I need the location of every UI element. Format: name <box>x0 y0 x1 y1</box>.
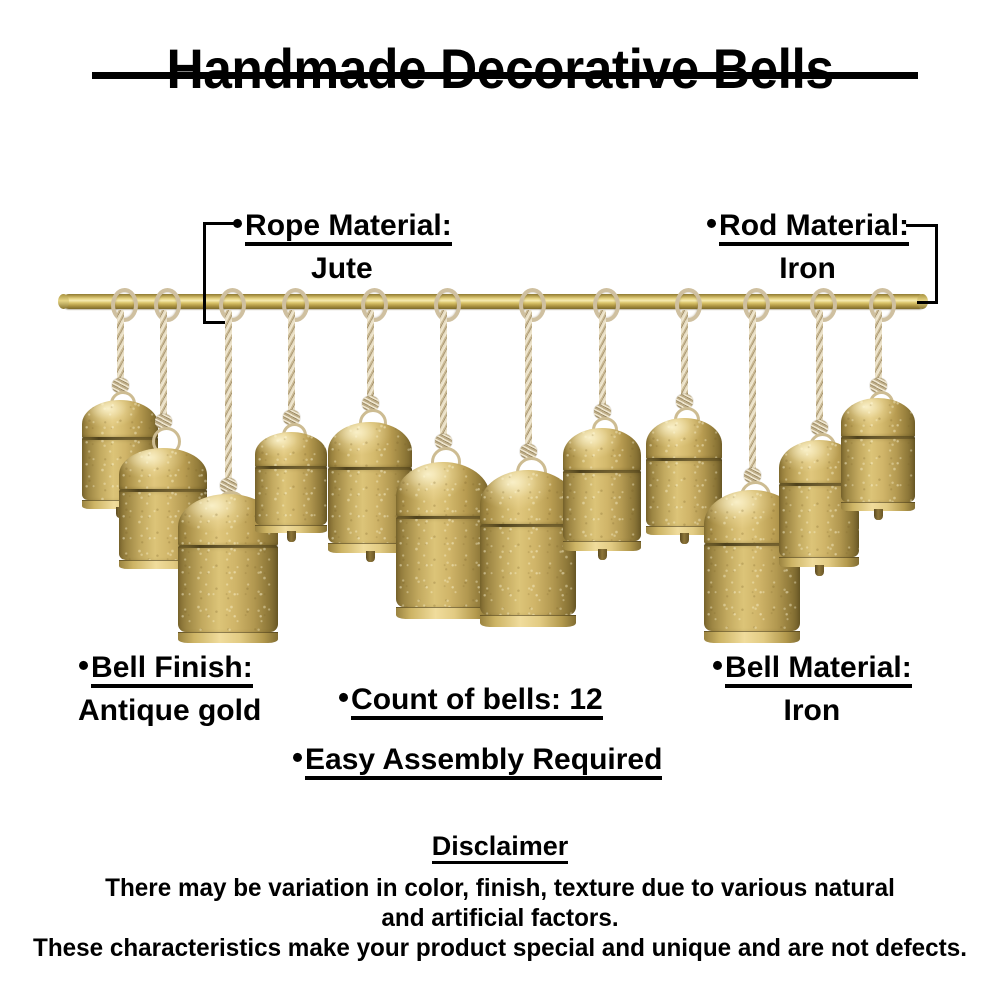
bell-dome <box>841 398 915 438</box>
jute-rope <box>440 310 447 438</box>
rope-loop <box>519 288 546 322</box>
bell-texture <box>82 437 158 500</box>
bell-rim <box>779 557 859 567</box>
rope-loop <box>593 288 620 322</box>
bell-seam <box>563 470 641 473</box>
rope-knot <box>220 478 237 493</box>
rope-loop <box>111 288 138 322</box>
bell-texture <box>779 440 859 485</box>
rope-knot <box>283 410 300 425</box>
bullet-icon: • <box>292 739 305 775</box>
disclaimer-block: Disclaimer There may be variation in col… <box>0 832 1000 963</box>
bell-texture <box>480 470 576 526</box>
decorative-bell <box>178 494 278 642</box>
jute-rope <box>749 310 756 472</box>
callout-finish-value: Antique gold <box>78 695 261 727</box>
bell-ring <box>516 457 547 488</box>
title-block: Handmade Decorative Bells <box>0 38 1000 100</box>
bullet-icon: • <box>338 679 351 715</box>
bell-rim <box>704 631 800 643</box>
bell-texture <box>119 489 207 560</box>
bell-texture <box>255 466 327 525</box>
callout-assembly: •Easy Assembly Required <box>292 740 662 780</box>
callout-assembly-label: Easy Assembly Required <box>305 745 662 780</box>
bullet-icon: • <box>712 647 725 683</box>
jute-rope <box>117 310 124 382</box>
bell-texture <box>328 467 412 543</box>
bullet-icon: • <box>232 205 245 241</box>
bell-body <box>178 545 278 632</box>
disclaimer-line-2: and artificial factors. <box>15 903 985 933</box>
bell-texture <box>82 400 158 439</box>
bell-body <box>779 483 859 557</box>
bell-texture <box>646 458 722 526</box>
rope-loop <box>675 288 702 322</box>
infographic-page: Handmade Decorative Bells •Rope Material… <box>0 0 1000 1000</box>
bell-dome <box>328 422 412 469</box>
bell-texture <box>841 398 915 438</box>
bell-body <box>328 467 412 543</box>
bell-body <box>480 524 576 615</box>
bell-ring <box>215 491 247 523</box>
jute-rope <box>225 310 232 482</box>
bell-clapper <box>287 531 296 542</box>
bullet-icon: • <box>706 205 719 241</box>
decorative-bell <box>328 422 412 552</box>
jute-rope <box>816 310 823 424</box>
bell-body <box>563 470 641 541</box>
bell-seam <box>328 467 412 470</box>
rope-loop <box>869 288 896 322</box>
bell-body <box>82 437 158 500</box>
callout-bell-count: •Count of bells: 12 <box>338 680 603 720</box>
decorative-bell <box>563 428 641 550</box>
bell-dome <box>779 440 859 485</box>
bell-texture <box>119 448 207 491</box>
bell-seam <box>779 483 859 486</box>
bell-seam <box>480 524 576 527</box>
rope-leader-bottom <box>203 321 225 324</box>
bell-clapper <box>815 565 824 576</box>
rope-loop <box>810 288 837 322</box>
callout-finish-label: Bell Finish: <box>91 653 253 688</box>
bell-seam <box>255 466 327 469</box>
decorative-bell <box>396 462 490 618</box>
bell-rim <box>841 502 915 511</box>
disclaimer-line-1: There may be variation in color, finish,… <box>15 873 985 903</box>
bell-texture <box>328 422 412 469</box>
rope-knot <box>744 468 761 483</box>
bell-rim <box>480 615 576 627</box>
bell-clapper <box>366 551 375 562</box>
rope-knot <box>811 420 828 435</box>
jute-rope <box>525 310 532 448</box>
rope-knot <box>155 414 172 429</box>
page-title: Handmade Decorative Bells <box>40 38 960 100</box>
bell-texture <box>480 524 576 615</box>
bell-texture <box>396 516 490 607</box>
bell-rim <box>178 632 278 643</box>
callout-rod-label: Rod Material: <box>719 211 909 246</box>
jute-rope <box>160 310 167 418</box>
bell-clapper <box>874 509 883 520</box>
bell-dome <box>119 448 207 491</box>
bell-ring <box>740 481 771 512</box>
rope-knot <box>435 434 452 449</box>
decorative-bell <box>480 470 576 626</box>
bell-texture <box>563 428 641 472</box>
iron-rod <box>62 294 926 309</box>
bell-seam <box>841 436 915 439</box>
rope-loop <box>434 288 461 322</box>
bell-dome <box>82 400 158 439</box>
bell-rim <box>646 526 722 535</box>
decorative-bell <box>704 490 800 642</box>
rod-end-left <box>58 294 69 309</box>
bell-ring <box>431 447 461 477</box>
jute-rope <box>599 310 606 408</box>
disclaimer-line-3: These characteristics make your product … <box>15 933 985 963</box>
bell-texture <box>563 470 641 541</box>
bell-ring <box>110 391 136 417</box>
bell-ring <box>809 433 836 460</box>
rope-loop <box>743 288 770 322</box>
callout-rod-value: Iron <box>706 253 909 285</box>
bell-body <box>704 543 800 631</box>
bell-texture <box>255 432 327 468</box>
bell-body <box>646 458 722 526</box>
bell-seam <box>82 437 158 440</box>
rope-knot <box>520 444 537 459</box>
title-underline-bar <box>92 72 918 79</box>
bell-rim <box>328 543 412 553</box>
bell-ring <box>592 417 618 443</box>
bell-seam <box>178 545 278 548</box>
decorative-bell <box>646 418 722 534</box>
callout-rope-material: •Rope Material: Jute <box>232 206 452 285</box>
rope-loop <box>361 288 388 322</box>
decorative-bell <box>841 398 915 510</box>
rod-leader-vertical <box>935 224 938 304</box>
bell-dome <box>563 428 641 472</box>
disclaimer-heading: Disclaimer <box>432 832 569 864</box>
bell-texture <box>646 418 722 460</box>
rod-leader-top <box>906 224 938 227</box>
bell-dome <box>178 494 278 547</box>
bell-seam <box>646 458 722 461</box>
decorative-bell <box>779 440 859 566</box>
bell-clapper <box>680 533 689 544</box>
rope-knot <box>362 396 379 411</box>
decorative-bell <box>255 432 327 532</box>
bell-seam <box>396 516 490 519</box>
bell-seam <box>704 543 800 546</box>
bell-body <box>396 516 490 607</box>
bell-texture <box>841 436 915 502</box>
bell-ring <box>359 409 387 437</box>
decorative-bell <box>119 448 207 568</box>
bell-texture <box>704 490 800 545</box>
callout-rod-material: •Rod Material: Iron <box>706 206 909 285</box>
rod-leader-bottom <box>917 301 938 304</box>
bell-dome <box>704 490 800 545</box>
rope-knot <box>676 394 693 409</box>
callout-material-value: Iron <box>712 695 912 727</box>
rope-loop <box>219 288 246 322</box>
bell-rim <box>563 541 641 551</box>
decorative-bell <box>82 400 158 508</box>
bell-ring <box>282 423 307 448</box>
rope-knot <box>870 378 887 393</box>
bell-rim <box>82 500 158 509</box>
jute-rope <box>875 310 882 382</box>
bell-clapper <box>116 507 125 518</box>
bell-texture <box>178 545 278 632</box>
bell-ring <box>152 427 181 456</box>
bell-dome <box>255 432 327 468</box>
bell-clapper <box>598 549 607 560</box>
bell-texture <box>704 543 800 631</box>
rope-knot <box>112 378 129 393</box>
callout-bell-material: •Bell Material: Iron <box>712 648 912 727</box>
bell-body <box>255 466 327 525</box>
jute-rope <box>367 310 374 400</box>
bell-texture <box>779 483 859 557</box>
callout-bell-finish: •Bell Finish: Antique gold <box>78 648 261 727</box>
callout-material-label: Bell Material: <box>725 653 912 688</box>
callout-rope-label: Rope Material: <box>245 211 452 246</box>
bell-texture <box>178 494 278 547</box>
bell-body <box>119 489 207 560</box>
callout-count-label: Count of bells: 12 <box>351 685 603 720</box>
bell-rim <box>396 607 490 619</box>
bell-texture <box>396 462 490 518</box>
jute-rope <box>288 310 295 414</box>
bell-dome <box>396 462 490 518</box>
callout-rope-value: Jute <box>232 253 452 285</box>
bell-rim <box>119 560 207 569</box>
bullet-icon: • <box>78 647 91 683</box>
rope-loop <box>282 288 309 322</box>
bell-dome <box>646 418 722 460</box>
bell-ring <box>674 407 700 433</box>
bell-dome <box>480 470 576 526</box>
bell-body <box>841 436 915 502</box>
bell-rim <box>255 525 327 533</box>
rope-knot <box>594 404 611 419</box>
bell-ring <box>869 391 894 416</box>
bell-seam <box>119 489 207 492</box>
rope-leader-vertical <box>203 222 206 324</box>
jute-rope <box>681 310 688 398</box>
rope-loop <box>154 288 181 322</box>
